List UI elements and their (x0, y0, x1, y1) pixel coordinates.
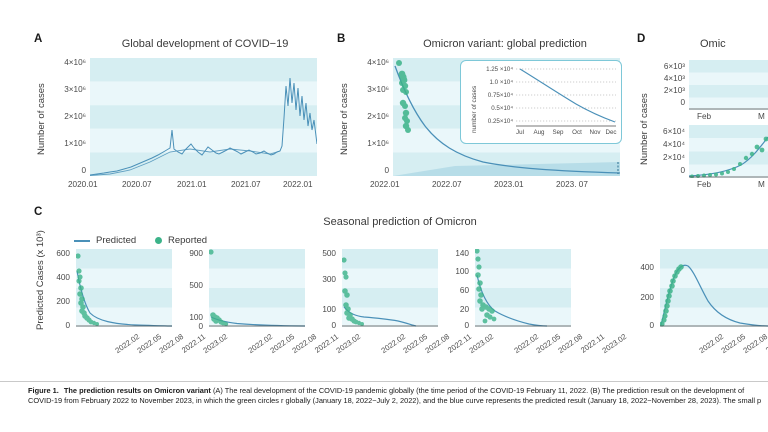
panel-a-ytick-2: 2×10⁶ (42, 112, 86, 121)
inset-ytick-4: 0.25×10⁴ (473, 118, 513, 125)
c-us-ytick-1: 400 (44, 273, 70, 282)
panel-d-top-ytick-3: 0 (645, 98, 685, 107)
c-sk-svg (660, 249, 768, 327)
panel-d-top-ytick-0: 6×10³ (645, 62, 685, 71)
c-uk-ytick-1: 500 (177, 281, 203, 290)
panel-c-title: Seasonal prediction of Omicron (290, 216, 510, 228)
panel-b-ytick-2: 2×10⁶ (345, 112, 389, 121)
inset-xtick-5: Dec (599, 129, 623, 136)
panel-d-bot-ytick-0: 6×10⁴ (645, 127, 685, 136)
panel-d-bot-ytick-3: 0 (645, 166, 685, 175)
c-france-plot (342, 249, 438, 327)
panel-d-bot-ytick-1: 4×10⁴ (645, 140, 685, 149)
panel-a-ytick-3: 1×10⁶ (42, 139, 86, 148)
panel-b-inset: number of cases 1.25 ×10⁴ 1.0 ×10⁴ 0.75×… (460, 60, 622, 144)
panel-b-letter: B (337, 33, 345, 45)
panel-d-top-ytick-2: 2×10³ (645, 86, 685, 95)
inset-svg (516, 66, 616, 128)
panel-d-letter: D (637, 33, 645, 45)
panel-d-bottom-plot (689, 125, 768, 178)
panel-d-bot-ytick-2: 2×10⁴ (645, 153, 685, 162)
panel-b-xtick-2: 2023.01 (494, 180, 524, 189)
c-us-ytick-3: 0 (44, 321, 70, 330)
c-uk-ytick-0: 900 (177, 249, 203, 258)
panel-b-xtick-3: 2023. 07 (556, 180, 588, 189)
c-italy-svg (475, 249, 571, 327)
panel-d-top-plot (689, 60, 768, 110)
panel-a-plot (90, 58, 317, 176)
panel-d-top-svg (689, 60, 768, 110)
panel-a-ytick-4: 0 (42, 166, 86, 175)
panel-a-ytick-1: 3×10⁶ (42, 85, 86, 94)
c-uk-ytick-2: 100 (177, 313, 203, 322)
c-uk-plot (209, 249, 305, 327)
c-uk-ytick-3: 0 (177, 322, 203, 331)
c-italy-ytick-4: 0 (443, 321, 469, 330)
panel-b-ytick-0: 4×10⁶ (345, 58, 389, 67)
inset-ytick-2: 0.75×10⁴ (473, 92, 513, 99)
panel-a-ytick-0: 4×10⁶ (42, 58, 86, 67)
panel-d-top-xtick-0: Feb (697, 112, 711, 121)
c-us-ytick-0: 600 (44, 249, 70, 258)
legend-predicted-line (74, 240, 90, 242)
legend-reported-label: Reported (168, 235, 207, 246)
legend-predicted-label: Predicted (96, 235, 136, 246)
c-france-svg (342, 249, 438, 327)
figure-panel-container: A Global development of COVID−19 Number … (0, 0, 768, 432)
c-italy-plot (475, 249, 571, 327)
panel-b-ytick-1: 3×10⁶ (345, 85, 389, 94)
panel-b-ytick-4: 0 (345, 166, 389, 175)
c-france-ytick-1: 300 (310, 275, 336, 284)
c-uk-svg (209, 249, 305, 327)
panel-d-bot-xtick-1: M (758, 180, 765, 189)
panel-a-xtick-0: 2020.01 (68, 180, 98, 189)
panel-a-xtick-2: 2021.01 (177, 180, 207, 189)
panel-a-xtick-3: 2021.07 (231, 180, 261, 189)
panel-a-xtick-4: 2022.01 (283, 180, 313, 189)
c-france-ytick-0: 500 (310, 249, 336, 258)
panel-d-title: Omic (700, 38, 768, 50)
c-italy-ytick-0: 140 (443, 249, 469, 258)
caption-divider (0, 381, 768, 382)
panel-d-top-ytick-1: 4×10³ (645, 74, 685, 83)
inset-ytick-0: 1.25 ×10⁴ (473, 66, 513, 73)
figure-caption: Figure 1. The prediction results on Omic… (28, 386, 768, 406)
panel-a-svg (90, 58, 317, 176)
panel-a-title: Global development of COVID−19 (80, 38, 330, 50)
panel-a-letter: A (34, 33, 42, 45)
panel-b-title: Omicron variant: global prediction (380, 38, 630, 50)
panel-d-bot-xtick-0: Feb (697, 180, 711, 189)
panel-d-bottom-svg (689, 125, 768, 178)
inset-ytick-3: 0.5×10⁴ (473, 105, 513, 112)
inset-ytick-1: 1.0 ×10⁴ (473, 79, 513, 86)
panel-c-letter: C (34, 206, 42, 218)
panel-b-xtick-1: 2022.07 (432, 180, 462, 189)
c-southkorea-plot (660, 249, 768, 327)
c-italy-ytick-3: 20 (443, 305, 469, 314)
c-us-plot (76, 249, 172, 327)
c-italy-ytick-1: 100 (443, 267, 469, 276)
c-sk-ytick-2: 0 (628, 321, 654, 330)
panel-b-xtick-0: 2022.01 (370, 180, 400, 189)
caption-title: The prediction results on Omicron varian… (64, 386, 211, 395)
c-italy-ytick-2: 60 (443, 286, 469, 295)
legend-reported-dot (155, 237, 162, 244)
c-france-ytick-2: 100 (310, 305, 336, 314)
panel-a-xtick-1: 2020.07 (122, 180, 152, 189)
panel-d-top-xtick-1: M (758, 112, 765, 121)
caption-label: Figure 1. (28, 386, 59, 395)
c-sk-ytick-1: 200 (628, 293, 654, 302)
panel-b-ytick-3: 1×10⁶ (345, 139, 389, 148)
c-sk-ytick-0: 400 (628, 263, 654, 272)
c-us-svg (76, 249, 172, 327)
c-us-ytick-2: 200 (44, 297, 70, 306)
c-france-ytick-3: 0 (310, 321, 336, 330)
